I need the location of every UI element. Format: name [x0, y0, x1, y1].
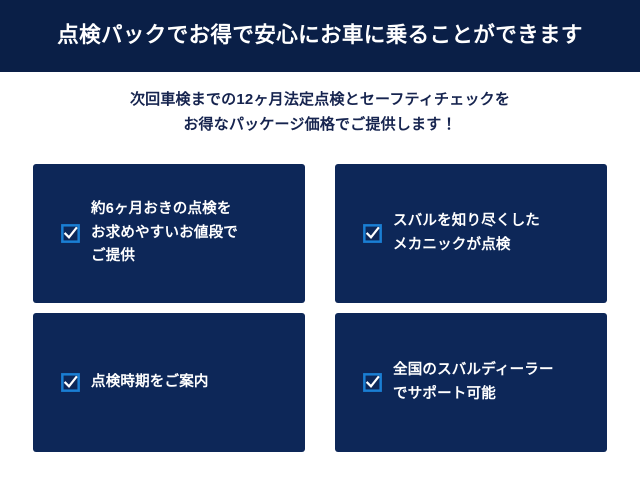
feature-card-2-content: スバルを知り尽くした メカニックが点検: [363, 210, 540, 257]
feature-card-4: 全国のスバルディーラー でサポート可能: [335, 313, 607, 452]
checkbox-checked-icon: [363, 224, 382, 243]
feature-card-1-text: 約6ヶ月おきの点検を お求めやすいお値段で ご提供: [91, 198, 238, 268]
feature-card-4-line-1: 全国のスバルディーラー: [393, 359, 554, 382]
checkbox-checked-icon: [363, 373, 382, 392]
feature-card-1-line-1: 約6ヶ月おきの点検を: [91, 198, 238, 221]
subtitle-line-1: 次回車検までの12ヶ月法定点検とセーフティチェックを: [0, 88, 640, 113]
promo-page: 点検パックでお得で安心にお車に乗ることができます 次回車検までの12ヶ月法定点検…: [0, 0, 640, 480]
feature-card-4-content: 全国のスバルディーラー でサポート可能: [363, 359, 554, 406]
header-band: 点検パックでお得で安心にお車に乗ることができます: [0, 0, 640, 72]
feature-card-1-content: 約6ヶ月おきの点検を お求めやすいお値段で ご提供: [61, 198, 238, 268]
page-title: 点検パックでお得で安心にお車に乗ることができます: [57, 23, 583, 49]
feature-card-2-line-2: メカニックが点検: [393, 234, 540, 257]
feature-card-grid: 約6ヶ月おきの点検を お求めやすいお値段で ご提供 スバルを知り尽くした メカニ…: [33, 164, 607, 452]
checkbox-checked-icon: [61, 224, 80, 243]
feature-card-1: 約6ヶ月おきの点検を お求めやすいお値段で ご提供: [33, 164, 305, 303]
subtitle-block: 次回車検までの12ヶ月法定点検とセーフティチェックを お得なパッケージ価格でご提…: [0, 88, 640, 138]
feature-card-2-line-1: スバルを知り尽くした: [393, 210, 540, 233]
feature-card-3: 点検時期をご案内: [33, 313, 305, 452]
feature-card-2: スバルを知り尽くした メカニックが点検: [335, 164, 607, 303]
feature-card-3-line-1: 点検時期をご案内: [91, 371, 209, 394]
feature-card-3-text: 点検時期をご案内: [91, 371, 209, 394]
feature-card-4-line-2: でサポート可能: [393, 383, 554, 406]
feature-card-2-text: スバルを知り尽くした メカニックが点検: [393, 210, 540, 257]
feature-card-3-content: 点検時期をご案内: [61, 371, 209, 394]
feature-card-1-line-3: ご提供: [91, 245, 238, 268]
subtitle-line-2: お得なパッケージ価格でご提供します！: [0, 113, 640, 138]
feature-card-1-line-2: お求めやすいお値段で: [91, 222, 238, 245]
checkbox-checked-icon: [61, 373, 80, 392]
feature-card-4-text: 全国のスバルディーラー でサポート可能: [393, 359, 554, 406]
